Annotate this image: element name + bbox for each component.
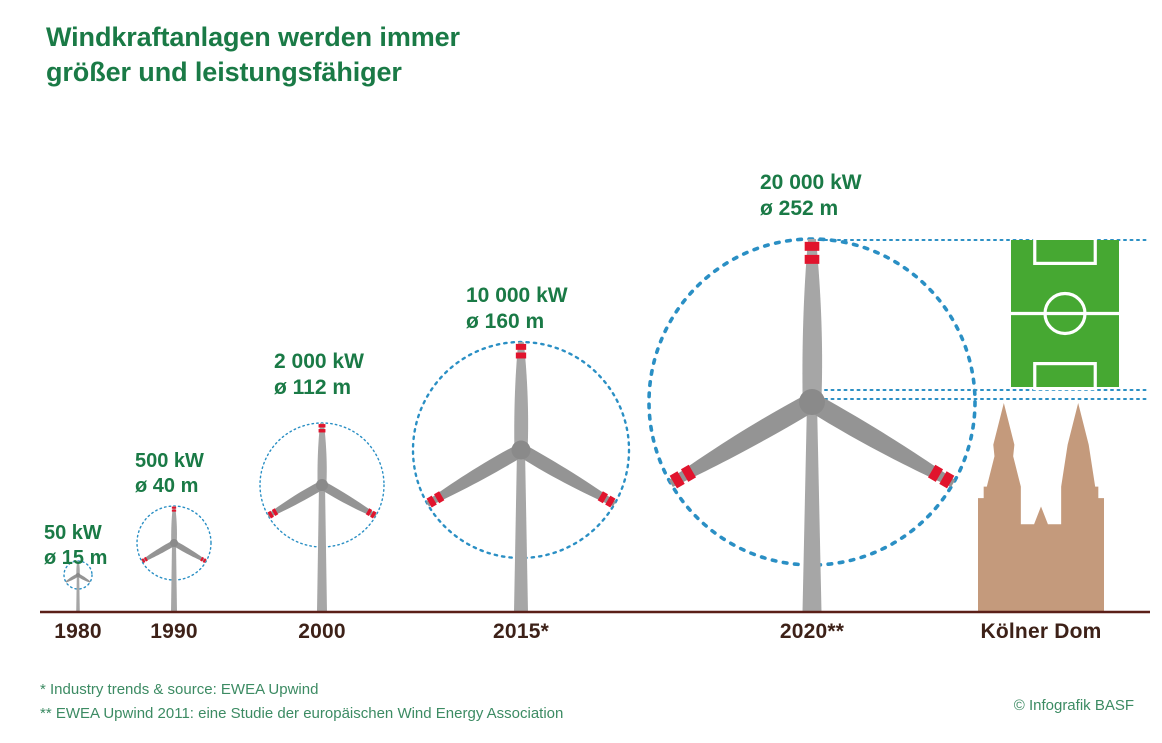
turbine-tower — [803, 402, 822, 612]
turbine-tower — [171, 543, 177, 612]
turbine-hub — [170, 539, 178, 547]
year-label-KlnerDom: Kölner Dom — [980, 620, 1101, 644]
blade-tip-stripe-1 — [516, 344, 526, 350]
blade-tip-stripe-1 — [319, 424, 326, 427]
turbine-blade-2 — [266, 481, 324, 520]
callout-t1980: 50 kW ø 15 m — [44, 521, 107, 571]
blade-tip-stripe-1 — [172, 507, 176, 509]
year-label-2000: 2000 — [298, 620, 346, 644]
footnotes: * Industry trends & source: EWEA Upwind … — [40, 678, 563, 727]
football-pitch — [1011, 238, 1119, 388]
year-label-1990: 1990 — [150, 620, 198, 644]
turbine-hub — [799, 389, 825, 415]
year-label-1980: 1980 — [54, 620, 102, 644]
turbine-tower — [76, 575, 80, 612]
blade-tip-stripe-2 — [805, 255, 820, 264]
turbine-blade-3 — [517, 444, 617, 510]
year-label-2015: 2015* — [493, 620, 549, 644]
callout-t2020: 20 000 kW ø 252 m — [760, 170, 862, 223]
turbine-hub — [512, 441, 531, 460]
turbine-blade-1 — [514, 342, 528, 450]
turbine-hub — [76, 573, 80, 577]
turbine-blade-1 — [171, 506, 177, 543]
credit-line: © Infografik BASF — [1014, 697, 1134, 714]
turbine-blade-3 — [807, 394, 958, 493]
cathedral-silhouette — [978, 403, 1104, 612]
turbine-t2000 — [260, 423, 384, 612]
callout-t1990: 500 kW ø 40 m — [135, 449, 204, 499]
callout-t2000: 2 000 kW ø 112 m — [274, 349, 364, 402]
turbine-blade-1 — [317, 423, 326, 485]
callout-t2015: 10 000 kW ø 160 m — [466, 283, 568, 336]
blade-tip-stripe-1 — [805, 242, 820, 251]
turbine-tower — [514, 450, 528, 612]
turbine-tower — [317, 485, 327, 612]
turbine-blade-2 — [424, 444, 524, 510]
infographic-stage: Windkraftanlagen werden immer größer und… — [0, 0, 1162, 743]
turbine-t2020 — [649, 239, 975, 612]
turbine-blade-1 — [802, 239, 822, 402]
turbine-blade-3 — [320, 481, 378, 520]
turbine-t1990 — [137, 506, 211, 612]
blade-tip-stripe-2 — [172, 510, 176, 512]
year-label-2020: 2020** — [780, 620, 844, 644]
cologne-cathedral — [978, 403, 1104, 612]
turbine-blade-2 — [666, 393, 817, 492]
turbine-hub — [316, 479, 328, 491]
blade-tip-stripe-2 — [319, 429, 326, 432]
blade-tip-stripe-2 — [516, 353, 526, 359]
turbine-t2015 — [413, 342, 629, 612]
